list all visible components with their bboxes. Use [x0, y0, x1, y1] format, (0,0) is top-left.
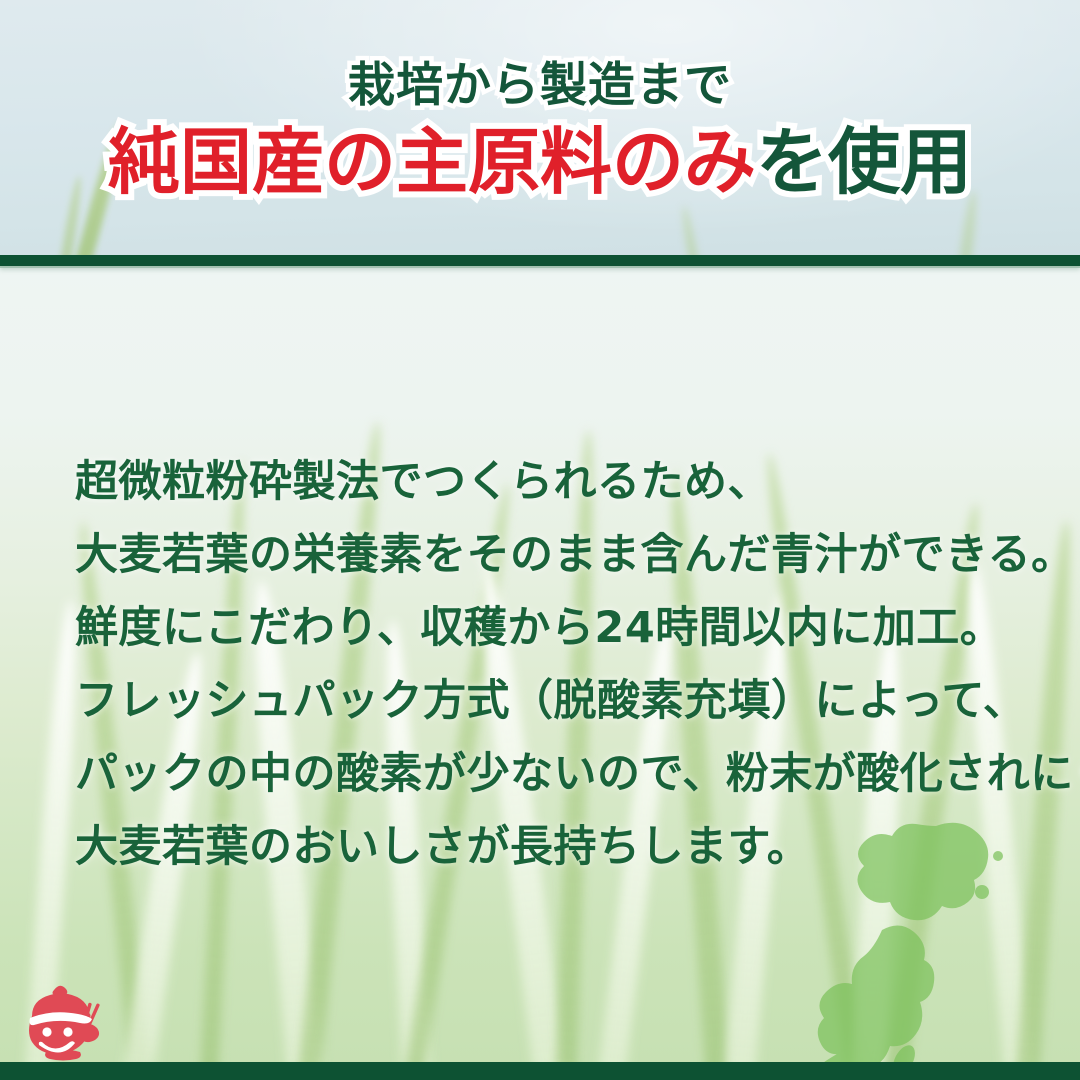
body-line: 大麦若葉のおいしさが長持ちします。 [75, 811, 1035, 884]
headline-title-red: 純国産の主原料のみ [108, 120, 756, 204]
headline-block: 栽培から製造まで 純国産の主原料のみを使用 [0, 0, 1080, 198]
grass-blade-icon [680, 205, 710, 256]
body-copy: 超微粒粉砕製法でつくられるため、 大麦若葉の栄養素をそのまま含んだ青汁ができる。… [75, 446, 1035, 884]
body-line: 超微粒粉砕製法でつくられるため、 [75, 446, 1035, 519]
headline-title-green: を使用 [756, 120, 972, 204]
body-line: 鮮度にこだわり、収穫から24時間以内に加工。 [75, 592, 1035, 665]
body-line: 大麦若葉の栄養素をそのまま含んだ青汁ができる。 [75, 519, 1035, 592]
body-line: フレッシュパック方式（脱酸素充填）によって、 [75, 665, 1035, 738]
poster: 栽培から製造まで 純国産の主原料のみを使用 [0, 0, 1080, 1080]
body-line: パックの中の酸素が少ないので、粉末が酸化されにくく、 [75, 738, 1035, 811]
rice-pot-mascot-icon [18, 972, 110, 1064]
section-divider [0, 255, 1080, 266]
headline-title: 純国産の主原料のみを使用 [0, 126, 1080, 198]
headline-subtitle: 栽培から製造まで [0, 62, 1080, 109]
footer-bar [0, 1062, 1080, 1080]
